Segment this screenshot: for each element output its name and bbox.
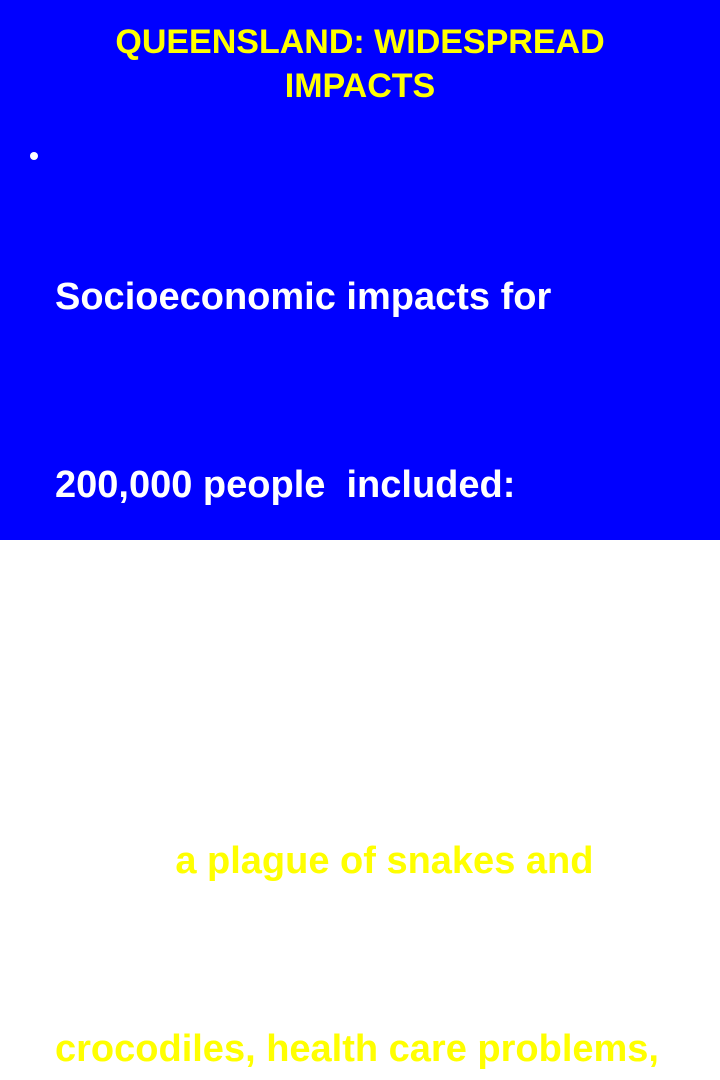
body-line-5: crocodiles, health care problems, bbox=[55, 1026, 712, 1073]
slide-title-line-1: QUEENSLAND: WIDESPREAD bbox=[0, 20, 720, 64]
body-line-5-yellow: crocodiles, health care problems, bbox=[55, 1028, 659, 1070]
body-line-4-yellow: a plague of snakes and bbox=[175, 840, 593, 882]
slide-title-line-2: IMPACTS bbox=[0, 64, 720, 108]
bullet-item-text: Socioeconomic impacts for 200,000 people… bbox=[55, 133, 712, 1080]
body-line-1-white: Socioeconomic impacts for bbox=[55, 276, 551, 318]
bullet-list-item: Socioeconomic impacts for 200,000 people… bbox=[22, 133, 712, 1080]
body-line-2: 200,000 people included: bbox=[55, 462, 712, 509]
body-line-3: evacuations, industrial slow- bbox=[55, 650, 712, 697]
body-line-4-white: down, bbox=[55, 840, 175, 882]
body-line-4: down, a plague of snakes and bbox=[55, 838, 712, 885]
slide-body: Socioeconomic impacts for 200,000 people… bbox=[22, 133, 712, 1080]
body-line-1: Socioeconomic impacts for bbox=[55, 274, 712, 321]
bullet-point-icon bbox=[30, 152, 38, 160]
slide-title: QUEENSLAND: WIDESPREAD IMPACTS bbox=[0, 20, 720, 108]
body-line-3-white: evacuations, industrial slow- bbox=[55, 652, 574, 694]
body-line-2-white: 200,000 people included: bbox=[55, 464, 515, 506]
presentation-slide: QUEENSLAND: WIDESPREAD IMPACTS Socioecon… bbox=[0, 0, 720, 540]
